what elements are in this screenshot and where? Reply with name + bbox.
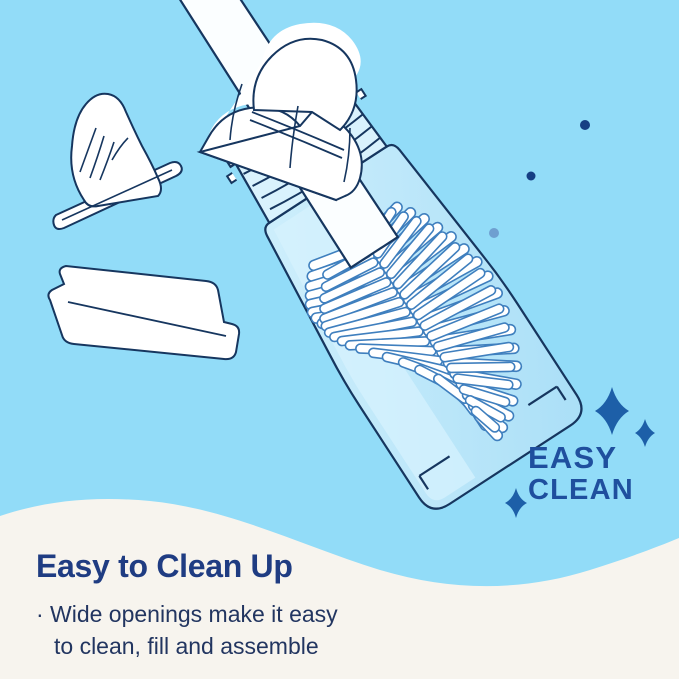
illustration-canvas	[0, 0, 679, 679]
product-feature-image: EASY CLEAN Easy to Clean Up ·Wide openin…	[0, 0, 679, 679]
